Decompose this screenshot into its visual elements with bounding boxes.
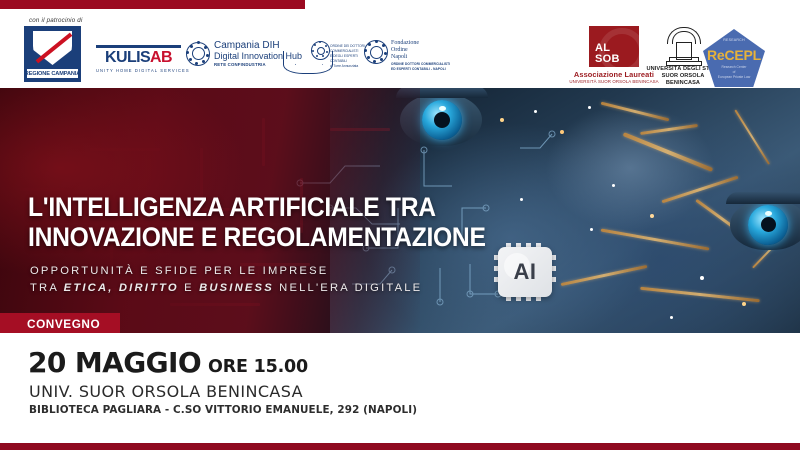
bottom-red-bar	[0, 443, 800, 450]
alsob-mark-line2: SOB	[595, 54, 620, 64]
alsob-initials: AL SOB	[595, 43, 620, 64]
badge-label: CONVEGNO	[27, 317, 100, 331]
regione-campania-caption: REGIONE CAMPANIA	[26, 68, 79, 79]
dotted-circle-icon	[364, 40, 388, 64]
kulisab-word-a: KULIS	[105, 49, 150, 66]
title-line-1: L'INTELLIGENZA ARTIFICIALE TRA	[28, 193, 474, 223]
kulisab-wordmark: KULISAB	[96, 50, 181, 66]
recepl-sub3: European Private Law	[703, 75, 765, 80]
sponsor-logo-strip: con il patrocinio di REGIONE CAMPANIA KU…	[0, 9, 800, 88]
university-column-emblem-icon	[661, 25, 705, 66]
alsob-mark-line1: AL	[595, 43, 620, 53]
event-datetime: 20 MAGGIOORE 15.00	[28, 346, 308, 379]
fondazione-line2: Ordine	[391, 47, 419, 54]
ordine-commercialisti-logo: ORDINE DEI DOTTORI COMMERCIALISTI E DEGL…	[283, 41, 349, 75]
event-time: ORE 15.00	[208, 357, 308, 377]
recepl-top: RESEARCH	[703, 38, 765, 42]
subtitle-seg-c: NELL'ERA DIGITALE	[274, 282, 422, 294]
recepl-wordmark: ReCEPL	[703, 47, 765, 63]
fondazione-ordine-logo: Fondazione Ordine Napoli ORDINE DOTTORI …	[364, 40, 419, 64]
subtitle-seg-a: TRA	[30, 282, 64, 294]
recepl-logo: RESEARCH ReCEPL Research Center of Europ…	[703, 29, 765, 87]
kulisab-word-b: AB	[150, 49, 172, 66]
ordine-commercialisti-text: ORDINE DEI DOTTORI COMMERCIALISTI E DEGL…	[330, 44, 365, 69]
fondazione-sub2: ED ESPERTI CONTABILI - NAPOLI	[391, 67, 450, 72]
event-venue: UNIV. SUOR ORSOLA BENINCASA	[29, 382, 303, 401]
dotted-circle-icon	[186, 42, 210, 66]
fondazione-sub: ORDINE DOTTORI COMMERCIALISTI ED ESPERTI…	[391, 62, 450, 71]
fondazione-line3: Napoli	[391, 54, 419, 61]
kulisab-tagline: UNITY HOME DIGITAL SERVICES	[96, 68, 181, 73]
patrocinio-label: con il patrocinio di	[29, 17, 83, 24]
subtitle: OPPORTUNITÀ E SFIDE PER LE IMPRESE TRA E…	[30, 263, 422, 297]
regione-campania-label: REGIONE CAMPANIA	[25, 71, 80, 77]
title-line-2: INNOVAZIONE E REGOLAMENTAZIONE	[28, 223, 474, 253]
fondazione-line1: Fondazione	[391, 40, 419, 47]
subtitle-line-1: OPPORTUNITÀ E SFIDE PER LE IMPRESE	[30, 263, 422, 280]
event-address: BIBLIOTECA PAGLIARA - C.SO VITTORIO EMAN…	[29, 404, 417, 416]
status-badge: CONVEGNO	[0, 313, 120, 334]
recepl-sub: Research Center of European Private Law	[703, 65, 765, 80]
kulisab-logo: KULISAB UNITY HOME DIGITAL SERVICES	[96, 45, 181, 73]
sgca-line5: di Torre Annunziata	[330, 64, 365, 69]
subtitle-emphasis-2: BUSINESS	[199, 282, 274, 294]
subtitle-emphasis-1: ETICA, DIRITTO	[64, 282, 179, 294]
fondazione-sub1: ORDINE DOTTORI COMMERCIALISTI	[391, 62, 450, 67]
red-bend-icon	[34, 32, 70, 64]
page-title: L'INTELLIGENZA ARTIFICIALE TRA INNOVAZIO…	[28, 193, 508, 253]
regione-campania-logo: REGIONE CAMPANIA	[24, 26, 81, 82]
event-details: 20 MAGGIOORE 15.00 UNIV. SUOR ORSOLA BEN…	[0, 333, 800, 443]
kulisab-rule	[96, 45, 181, 48]
event-date: 20 MAGGIO	[28, 346, 201, 379]
dotted-circle-icon	[311, 41, 330, 60]
top-red-bar	[0, 0, 305, 9]
event-poster: con il patrocinio di REGIONE CAMPANIA KU…	[0, 0, 800, 450]
subtitle-seg-b: E	[179, 282, 199, 294]
alsob-mark: AL SOB	[589, 26, 639, 67]
subtitle-line-2: TRA ETICA, DIRITTO E BUSINESS NELL'ERA D…	[30, 280, 422, 297]
